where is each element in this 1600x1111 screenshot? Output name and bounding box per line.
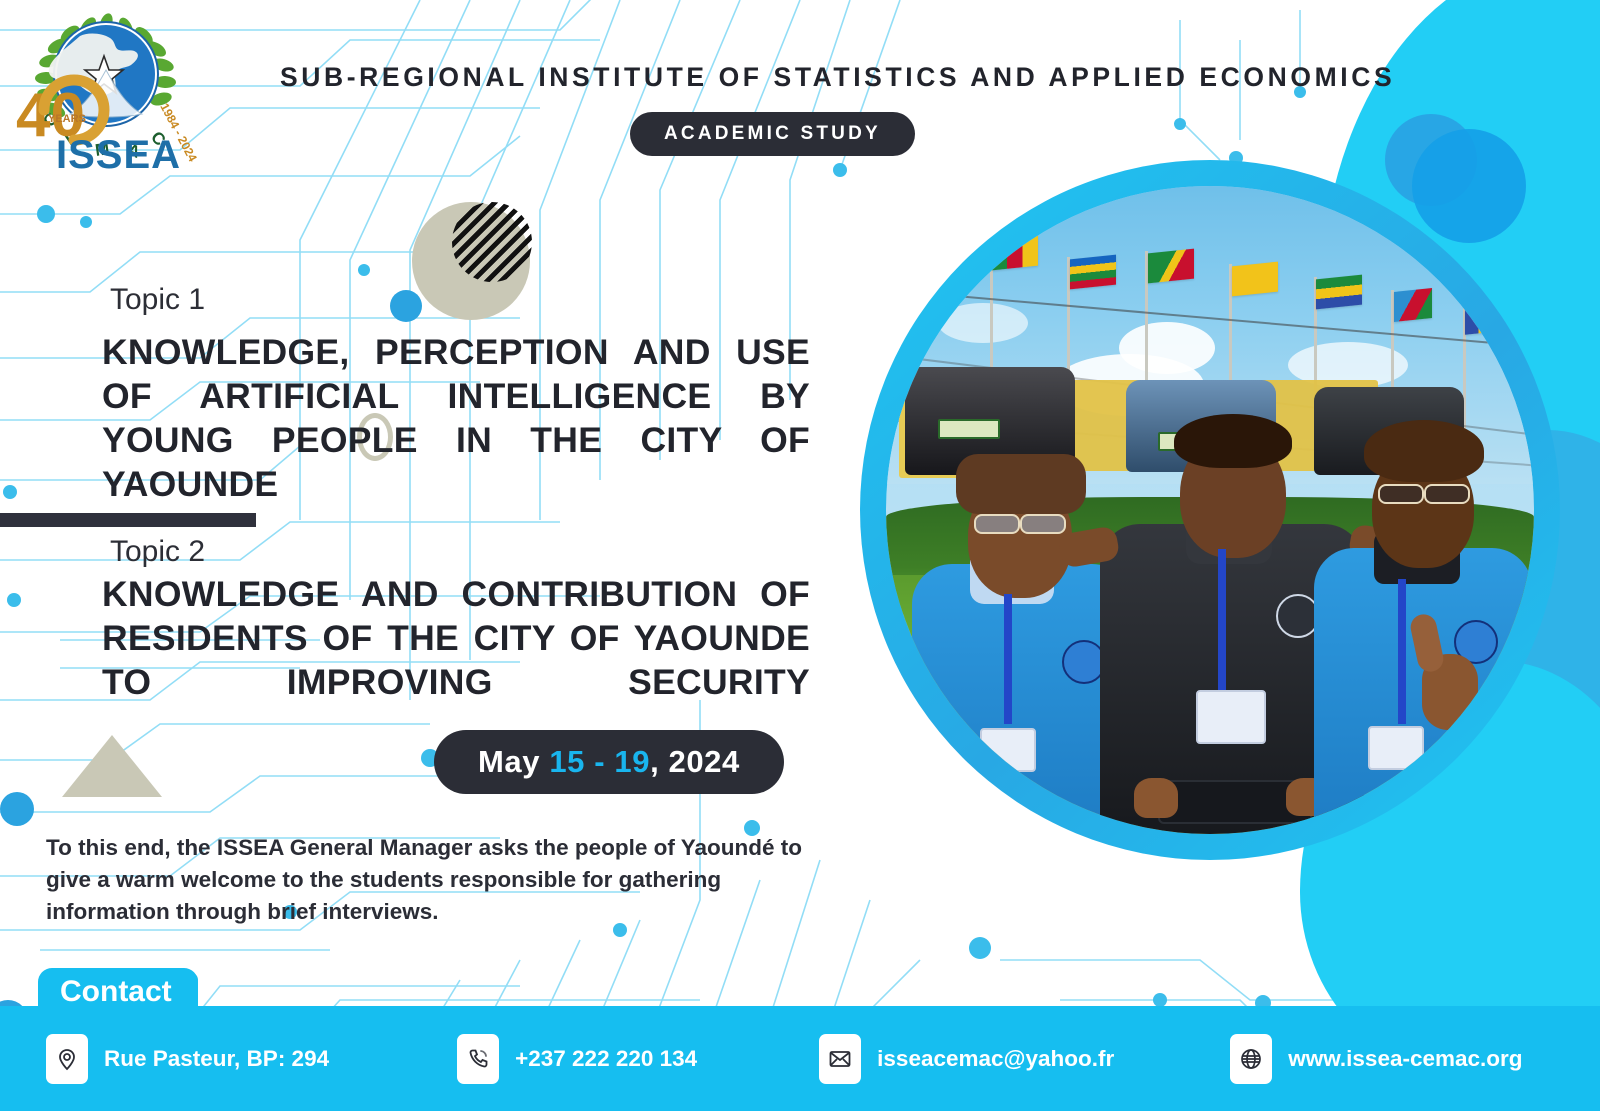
photo-flag [1316,274,1362,309]
students-photo [886,186,1534,834]
photo-student-hair [1174,414,1292,468]
contact-email-text: isseacemac@yahoo.fr [877,1046,1114,1072]
contact-item-website[interactable]: www.issea-cemac.org [1230,1034,1522,1084]
photo-student-lanyard [1218,549,1226,699]
event-date-badge: May 15 - 19, 2024 [434,730,784,794]
contact-website-text: www.issea-cemac.org [1288,1046,1522,1072]
decor-dot-blue [390,290,422,322]
topic-2-label: Topic 2 [110,535,205,569]
decor-circle-striped [452,202,532,282]
photo-flag [1148,248,1194,283]
photo-student-badge [980,728,1036,772]
contact-address-text: Rue Pasteur, BP: 294 [104,1046,329,1072]
institute-title: SUB-REGIONAL INSTITUTE OF STATISTICS AND… [280,62,1370,93]
topic-2-title: KNOWLEDGE AND CONTRIBUTION OF RESIDENTS … [102,572,810,748]
photo-cloud [938,303,1028,343]
logo-issea-wordmark: ISSEA [56,133,181,177]
contact-item-phone[interactable]: +237 222 220 134 [457,1034,697,1084]
photo-flag [1394,288,1432,322]
topic-divider-rule [0,513,256,527]
photo-flag [1070,255,1116,290]
photo-ring-frame [860,160,1560,860]
photo-student-right [1314,394,1534,834]
date-month: May [478,744,540,779]
contact-item-address[interactable]: Rue Pasteur, BP: 294 [46,1034,329,1084]
contact-footer-bar: Rue Pasteur, BP: 294 +237 222 220 134 is… [0,1006,1600,1111]
poster-canvas: C E M A C 40 YEARS 1984 - 2024 ISSEA SUB… [0,0,1600,1111]
phone-icon [457,1034,499,1084]
contact-item-email[interactable]: isseacemac@yahoo.fr [819,1034,1114,1084]
body-copy: To this end, the ISSEA General Manager a… [46,832,816,928]
photo-student-lanyard [1398,579,1406,724]
photo-student-hand [1134,778,1178,818]
photo-student-glasses [974,514,1020,534]
photo-student-lanyard [1004,594,1012,724]
decor-dot-blue [0,792,34,826]
photo-flag [992,235,1038,270]
photo-flag [1465,301,1499,335]
photo-flag [1232,261,1278,296]
contact-tab-label: Contact [38,968,198,1018]
location-pin-icon [46,1034,88,1084]
photo-student-badge [1368,726,1424,770]
topic-1-label: Topic 1 [110,283,205,317]
date-year: , 2024 [650,744,740,779]
date-separator: - [585,744,614,779]
date-day-start: 15 [549,744,585,779]
contact-phone-text: +237 222 220 134 [515,1046,697,1072]
globe-icon [1230,1034,1272,1084]
photo-student-headwrap [956,454,1086,514]
photo-student-glasses [1378,484,1424,504]
academic-study-badge: ACADEMIC STUDY [630,112,915,156]
issea-cemac-logo: C E M A C 40 YEARS 1984 - 2024 ISSEA [8,6,208,181]
photo-student-glasses [1424,484,1470,504]
photo-student-badge [1196,690,1266,744]
svg-text:YEARS: YEARS [48,113,86,125]
date-day-end: 19 [614,744,650,779]
photo-student-hair [1364,420,1484,482]
envelope-icon [819,1034,861,1084]
photo-student-glasses [1020,514,1066,534]
